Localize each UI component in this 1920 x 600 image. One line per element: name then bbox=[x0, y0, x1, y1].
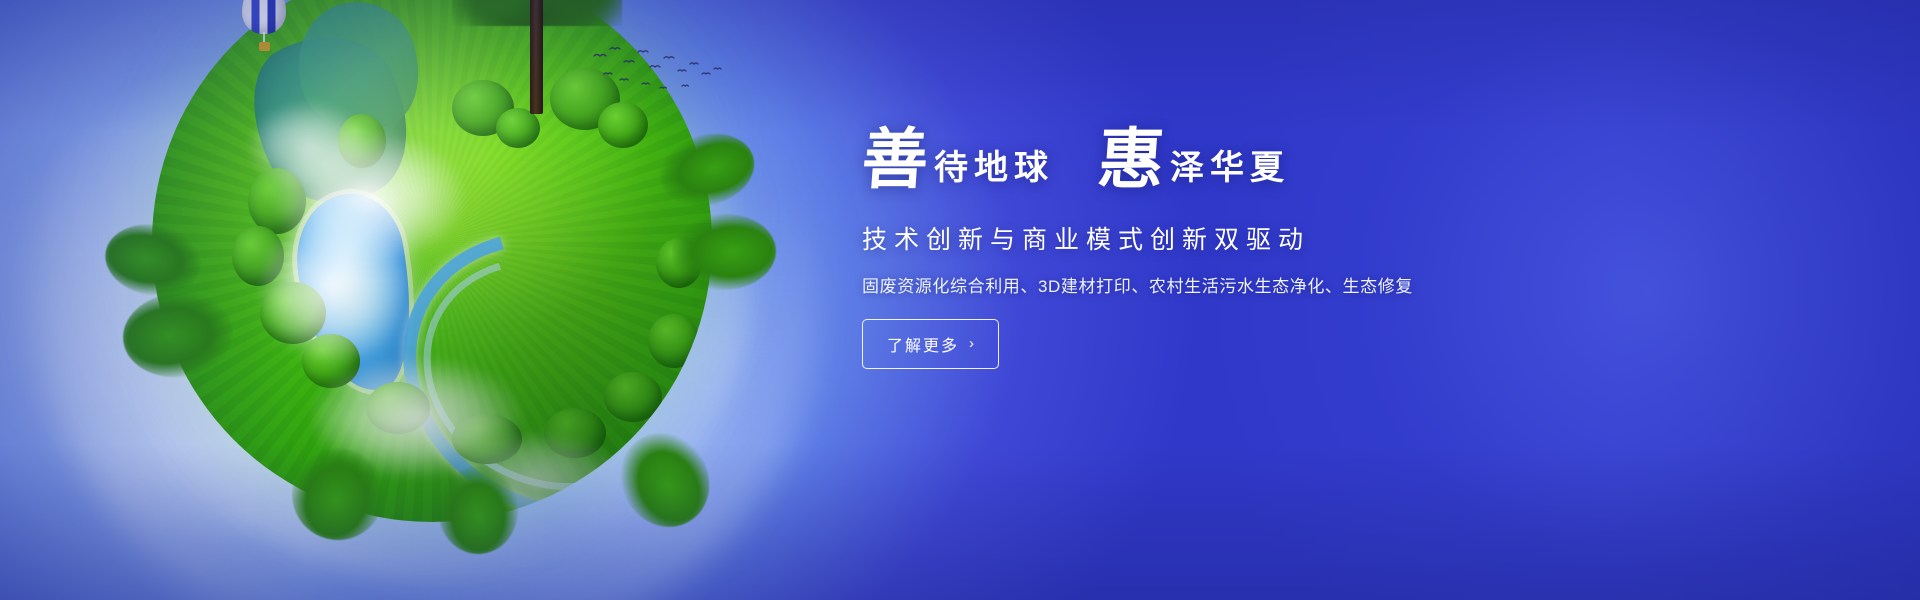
learn-more-button[interactable]: 了解更多 › bbox=[862, 319, 999, 369]
hero-content: 善 待地球 惠 泽华夏 技术创新与商业模式创新双驱动 固废资源化综合利用、3D建… bbox=[862, 128, 1582, 369]
learn-more-label: 了解更多 bbox=[887, 332, 959, 356]
hero-banner: 善 待地球 惠 泽华夏 技术创新与商业模式创新双驱动 固废资源化综合利用、3D建… bbox=[0, 0, 1920, 600]
page-title: 善 待地球 惠 泽华夏 bbox=[862, 128, 1582, 194]
headline-char-shan: 善 bbox=[860, 128, 937, 194]
headline-text-zehuaxia: 泽华夏 bbox=[1170, 152, 1290, 194]
hero-description: 固废资源化综合利用、3D建材打印、农村生活污水生态净化、生态修复 bbox=[862, 272, 1582, 297]
headline-text-daidiqiu: 待地球 bbox=[934, 152, 1054, 194]
hero-subtitle: 技术创新与商业模式创新双驱动 bbox=[862, 220, 1582, 256]
headline-char-hui: 惠 bbox=[1096, 128, 1173, 194]
chevron-right-icon: › bbox=[969, 335, 974, 352]
